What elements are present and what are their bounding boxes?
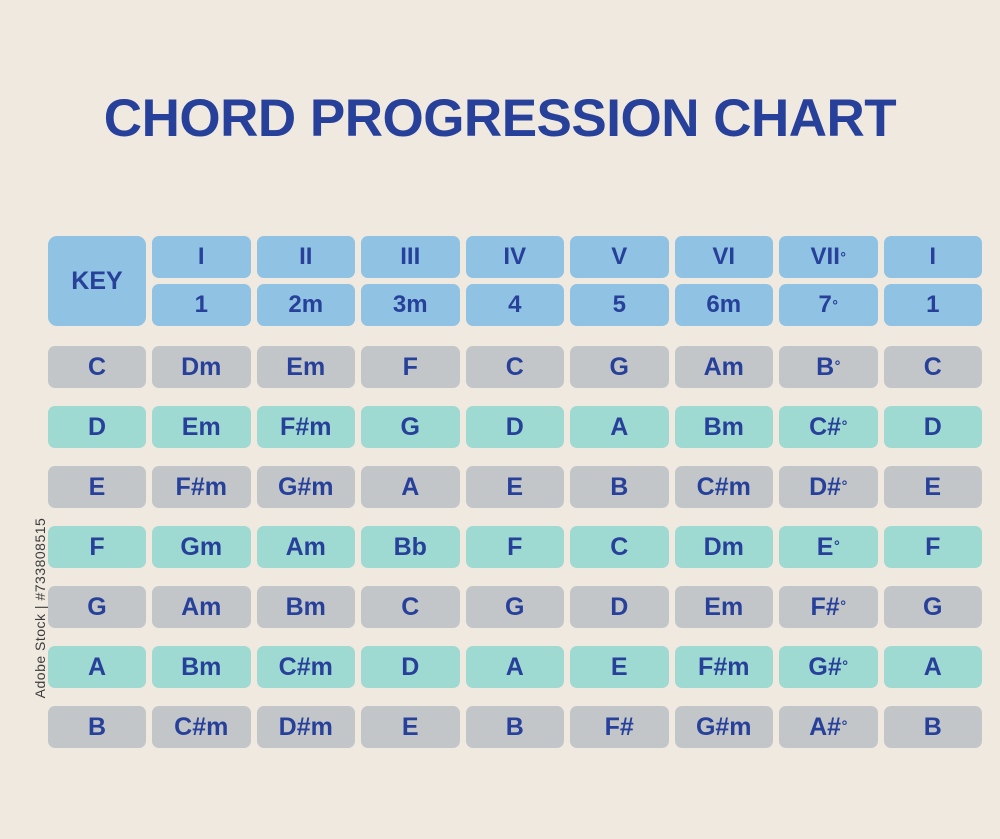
key-cell-B: B	[48, 706, 146, 748]
chord-cell-E-3: A	[361, 466, 460, 508]
chord-cell-G-7: F#°	[779, 586, 878, 628]
chord-cell-G-2: Bm	[257, 586, 356, 628]
header-degree-cell-7: VII°	[779, 236, 878, 278]
chord-chart-page: CHORD PROGRESSION CHART Adobe Stock | #7…	[0, 0, 1000, 839]
chord-cell-B-1: C#m	[152, 706, 251, 748]
chord-cell-G-6: Em	[675, 586, 774, 628]
key-cell-A: A	[48, 646, 146, 688]
chord-cell-E-2: G#m	[257, 466, 356, 508]
chord-progression-table: KEY IIIIIIIVVVIVII°I 12m3m456m7°1 CDmEmF…	[48, 236, 982, 748]
chord-cell-G-4: G	[466, 586, 565, 628]
chord-cell-B-5: F#	[570, 706, 669, 748]
chord-cell-D-6: Bm	[675, 406, 774, 448]
header-number-cell-1: 1	[152, 284, 251, 326]
chord-cell-B-8: B	[884, 706, 983, 748]
header-number-cell-2: 2m	[257, 284, 356, 326]
chord-cell-B-2: D#m	[257, 706, 356, 748]
chord-cell-F-2: Am	[257, 526, 356, 568]
chord-cell-A-2: C#m	[257, 646, 356, 688]
chord-cell-G-5: D	[570, 586, 669, 628]
chord-cell-B-4: B	[466, 706, 565, 748]
chord-cell-G-8: G	[884, 586, 983, 628]
chord-cell-A-8: A	[884, 646, 983, 688]
table-row-key-B: BC#mD#mEBF#G#mA#°B	[48, 706, 982, 748]
chord-cell-C-4: C	[466, 346, 565, 388]
chord-cell-E-4: E	[466, 466, 565, 508]
chord-cell-G-3: C	[361, 586, 460, 628]
header-number-cell-4: 4	[466, 284, 565, 326]
table-body: CDmEmFCGAmB°CDEmF#mGDABmC#°DEF#mG#mAEBC#…	[48, 346, 982, 748]
header-row-roman: IIIIIIIVVVIVII°I	[152, 236, 982, 278]
chord-cell-C-5: G	[570, 346, 669, 388]
header-number-cell-6: 6m	[675, 284, 774, 326]
chord-cell-F-5: C	[570, 526, 669, 568]
key-cell-F: F	[48, 526, 146, 568]
chord-cell-D-4: D	[466, 406, 565, 448]
chord-cell-F-8: F	[884, 526, 983, 568]
chord-cell-E-1: F#m	[152, 466, 251, 508]
chord-cell-F-7: E°	[779, 526, 878, 568]
table-row-key-C: CDmEmFCGAmB°C	[48, 346, 982, 388]
table-row-key-F: FGmAmBbFCDmE°F	[48, 526, 982, 568]
header-degree-cell-1: I	[152, 236, 251, 278]
header-columns: IIIIIIIVVVIVII°I 12m3m456m7°1	[152, 236, 982, 326]
header-degree-cell-4: IV	[466, 236, 565, 278]
chord-cell-C-2: Em	[257, 346, 356, 388]
chord-cell-C-7: B°	[779, 346, 878, 388]
chord-cell-E-8: E	[884, 466, 983, 508]
key-cell-C: C	[48, 346, 146, 388]
chord-cell-D-7: C#°	[779, 406, 878, 448]
chord-cell-A-1: Bm	[152, 646, 251, 688]
table-row-key-D: DEmF#mGDABmC#°D	[48, 406, 982, 448]
chord-cell-D-8: D	[884, 406, 983, 448]
table-row-key-G: GAmBmCGDEmF#°G	[48, 586, 982, 628]
chord-cell-B-7: A#°	[779, 706, 878, 748]
table-row-key-A: ABmC#mDAEF#mG#°A	[48, 646, 982, 688]
table-header: KEY IIIIIIIVVVIVII°I 12m3m456m7°1	[48, 236, 982, 326]
header-degree-cell-2: II	[257, 236, 356, 278]
table-row-key-E: EF#mG#mAEBC#mD#°E	[48, 466, 982, 508]
header-number-cell-5: 5	[570, 284, 669, 326]
chord-cell-A-3: D	[361, 646, 460, 688]
chord-cell-E-7: D#°	[779, 466, 878, 508]
header-degree-cell-6: VI	[675, 236, 774, 278]
chord-cell-D-3: G	[361, 406, 460, 448]
chord-cell-C-6: Am	[675, 346, 774, 388]
chord-cell-B-6: G#m	[675, 706, 774, 748]
chord-cell-F-3: Bb	[361, 526, 460, 568]
chord-cell-F-6: Dm	[675, 526, 774, 568]
header-degree-cell-8: I	[884, 236, 983, 278]
header-key-cell: KEY	[48, 236, 146, 326]
chord-cell-D-5: A	[570, 406, 669, 448]
chord-cell-E-5: B	[570, 466, 669, 508]
chord-cell-F-4: F	[466, 526, 565, 568]
key-cell-D: D	[48, 406, 146, 448]
chord-cell-A-4: A	[466, 646, 565, 688]
stock-watermark: Adobe Stock | #733808515	[32, 508, 48, 708]
key-cell-E: E	[48, 466, 146, 508]
chord-cell-C-1: Dm	[152, 346, 251, 388]
chord-cell-D-1: Em	[152, 406, 251, 448]
chord-cell-G-1: Am	[152, 586, 251, 628]
header-number-cell-3: 3m	[361, 284, 460, 326]
page-title: CHORD PROGRESSION CHART	[0, 88, 1000, 149]
chord-cell-E-6: C#m	[675, 466, 774, 508]
chord-cell-A-5: E	[570, 646, 669, 688]
chord-cell-A-7: G#°	[779, 646, 878, 688]
chord-cell-A-6: F#m	[675, 646, 774, 688]
chord-cell-C-8: C	[884, 346, 983, 388]
header-row-numbers: 12m3m456m7°1	[152, 284, 982, 326]
chord-cell-C-3: F	[361, 346, 460, 388]
header-number-cell-7: 7°	[779, 284, 878, 326]
chord-cell-B-3: E	[361, 706, 460, 748]
chord-cell-F-1: Gm	[152, 526, 251, 568]
header-degree-cell-5: V	[570, 236, 669, 278]
key-cell-G: G	[48, 586, 146, 628]
header-degree-cell-3: III	[361, 236, 460, 278]
header-number-cell-8: 1	[884, 284, 983, 326]
chord-cell-D-2: F#m	[257, 406, 356, 448]
